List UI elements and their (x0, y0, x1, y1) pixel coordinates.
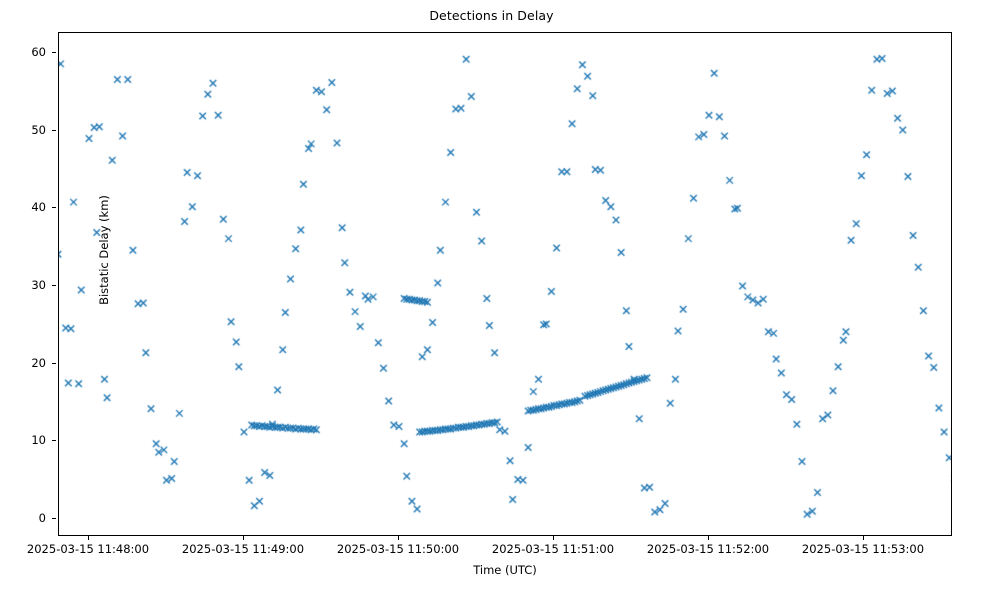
x-tick-label: 2025-03-15 11:53:00 (778, 542, 948, 557)
y-tick-mark (52, 207, 56, 208)
x-tick-mark (863, 536, 864, 540)
y-tick-label: 40 (0, 199, 46, 215)
x-tick-mark (88, 536, 89, 540)
x-tick-mark (553, 536, 554, 540)
x-axis-label: Time (UTC) (58, 563, 952, 577)
y-axis-label: Bistatic Delay (km) (97, 140, 111, 360)
x-tick-mark (398, 536, 399, 540)
scatter-canvas (59, 33, 952, 536)
y-tick-mark (52, 518, 56, 519)
y-tick-label: 50 (0, 122, 46, 138)
y-tick-label: 30 (0, 277, 46, 293)
x-tick-mark (243, 536, 244, 540)
y-tick-mark (52, 52, 56, 53)
x-tick-label: 2025-03-15 11:50:00 (313, 542, 483, 557)
plot-area (58, 32, 952, 536)
x-tick-label: 2025-03-15 11:52:00 (623, 542, 793, 557)
matplotlib-figure: Detections in Delay 0102030405060 2025-0… (0, 0, 983, 590)
y-tick-label: 0 (0, 510, 46, 526)
y-tick-mark (52, 130, 56, 131)
x-tick-label: 2025-03-15 11:48:00 (3, 542, 173, 557)
x-tick-label: 2025-03-15 11:51:00 (468, 542, 638, 557)
y-tick-label: 20 (0, 355, 46, 371)
page-title: Detections in Delay (0, 8, 983, 23)
y-tick-mark (52, 285, 56, 286)
x-tick-label: 2025-03-15 11:49:00 (158, 542, 328, 557)
x-tick-mark (708, 536, 709, 540)
y-tick-label: 10 (0, 432, 46, 448)
y-tick-mark (52, 363, 56, 364)
y-tick-label: 60 (0, 44, 46, 60)
y-tick-mark (52, 440, 56, 441)
